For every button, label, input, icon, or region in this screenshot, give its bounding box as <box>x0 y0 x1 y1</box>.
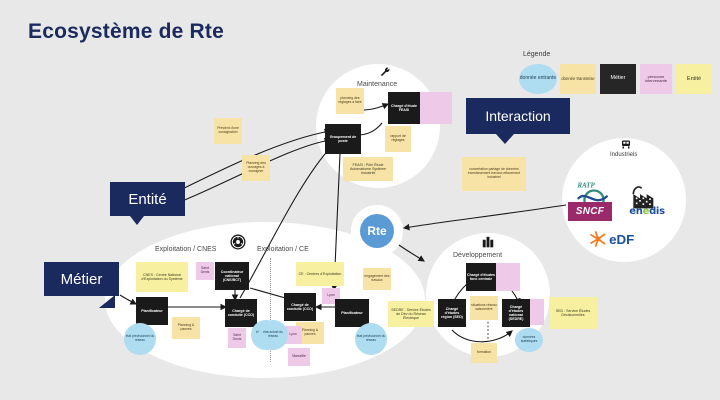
note-rapport-reglages: rapport de réglages <box>385 126 411 152</box>
callout-metier[interactable]: Métier <box>44 262 119 296</box>
note-planning-reglages: planning des réglages a faire <box>336 88 364 114</box>
node-charge-etudes-national[interactable]: Chargé d'études national (SEDRE) <box>502 299 530 327</box>
note-planning-ouvrages: Planning des ouvrages à consigner <box>242 155 270 181</box>
steering-wheel-icon <box>229 233 247 251</box>
person-marseille-ce[interactable]: Marseille <box>288 348 310 366</box>
cluster-title-maintenance: Maintenance <box>357 81 397 88</box>
wrench-icon <box>379 66 391 78</box>
cluster-title-exploitation-ce: Exploitation / CE <box>257 246 309 253</box>
node-groupement-poste[interactable]: Groupement de poste <box>325 124 361 154</box>
cluster-title-exploitation-cnes: Exploitation / CNES <box>155 246 216 253</box>
legend-title: Légende <box>523 51 550 58</box>
rte-logo: Rte <box>360 214 394 248</box>
legend-item-metier: Métier <box>600 64 636 94</box>
edf-logo: eDF <box>590 230 648 248</box>
callout-entite-label: Entité <box>128 191 166 208</box>
callout-interaction-label: Interaction <box>485 108 550 124</box>
svg-text:RATP: RATP <box>577 182 596 189</box>
person-dev-national[interactable] <box>530 299 544 325</box>
buildings-icon <box>481 234 495 249</box>
callout-interaction-tail <box>496 134 514 144</box>
donnee-statistiques: données statistiques <box>515 328 543 352</box>
node-charge-etudes-region[interactable]: Chargé d'études région (SED) <box>438 299 466 327</box>
legend-ce: CE : Centres d'Exploitation <box>296 262 344 286</box>
callout-entite-tail <box>130 216 144 225</box>
note-concertation: concertation partage de données investis… <box>462 157 526 191</box>
donnee-etat-actuel-ce: état actuel du réseau <box>258 320 288 350</box>
svg-text:eDF: eDF <box>609 232 634 247</box>
note-planning-pannes-cnes: Planning & pannes <box>172 317 200 339</box>
note-prevent-consignation: Prévient d'une consignation <box>214 118 242 144</box>
legend-item-entite: Entité <box>676 64 712 94</box>
legend-sed: SED : Service Études Décisionnelles <box>549 297 597 329</box>
node-charge-conduite-cnes[interactable]: Chargé de conduite (CCO) <box>225 299 257 327</box>
donnee-etat-previsionnel-cnes: état prévisionnel du réseau <box>124 323 156 355</box>
callout-metier-tail <box>99 295 115 308</box>
note-engagement-travaux: engagement des travaux <box>363 268 391 290</box>
legend-item-personne-intervenante: personne intervenante <box>640 64 672 94</box>
person-feasi[interactable] <box>420 92 452 124</box>
node-coordinateur-national[interactable]: Coordinateur national (CNE/BCT) <box>215 262 249 290</box>
node-planificateur-ce[interactable]: Planificateur <box>335 299 369 327</box>
cluster-title-industriels: Industriels <box>610 152 637 158</box>
legend-item-donnee-transmise: donnée transmise <box>560 64 596 94</box>
note-situations-reseau: situations réseau saisonnière <box>470 296 498 320</box>
callout-entite[interactable]: Entité <box>110 182 185 216</box>
callout-metier-label: Métier <box>61 271 103 288</box>
person-saint-denis-cnes-top[interactable]: Saint Denis <box>196 262 214 280</box>
legend-sedre: SEDRE : Service Études de Dév du Réseau … <box>388 301 434 327</box>
person-saint-denis-cnes-bottom[interactable]: Saint Denis <box>228 328 246 348</box>
legend-cnes: CNES : Centre National d'Exploitation du… <box>136 262 188 292</box>
note-formation: formation <box>471 343 497 363</box>
node-planificateur-cnes[interactable]: Planificateur <box>136 297 168 325</box>
diagram-canvas: Ecosystème de Rte <box>0 0 720 400</box>
donnee-etat-previsionnel-ce: état prévisionnel du réseau <box>355 323 387 355</box>
industry-icon <box>620 138 632 151</box>
person-dev-centrale[interactable] <box>496 263 520 291</box>
cluster-title-developpement: Développement <box>453 252 502 259</box>
legend-item-donnee-entrante: donnée entrante <box>519 64 557 94</box>
node-charge-conduite-ce[interactable]: Chargé de conduite (CCO) <box>284 293 316 321</box>
node-charge-etude-feasi[interactable]: Chargé d'étude FEASI <box>388 92 420 124</box>
sncf-logo: SNCF <box>568 202 612 221</box>
enedis-logo: enedis <box>621 205 673 218</box>
node-charge-etudes-fonc-centrale[interactable]: Chargé d'études fonc centrale <box>466 263 496 291</box>
legend-feasi: FEASI : Pôle Étude Automatisme Système I… <box>343 157 393 181</box>
callout-interaction[interactable]: Interaction <box>466 98 570 134</box>
